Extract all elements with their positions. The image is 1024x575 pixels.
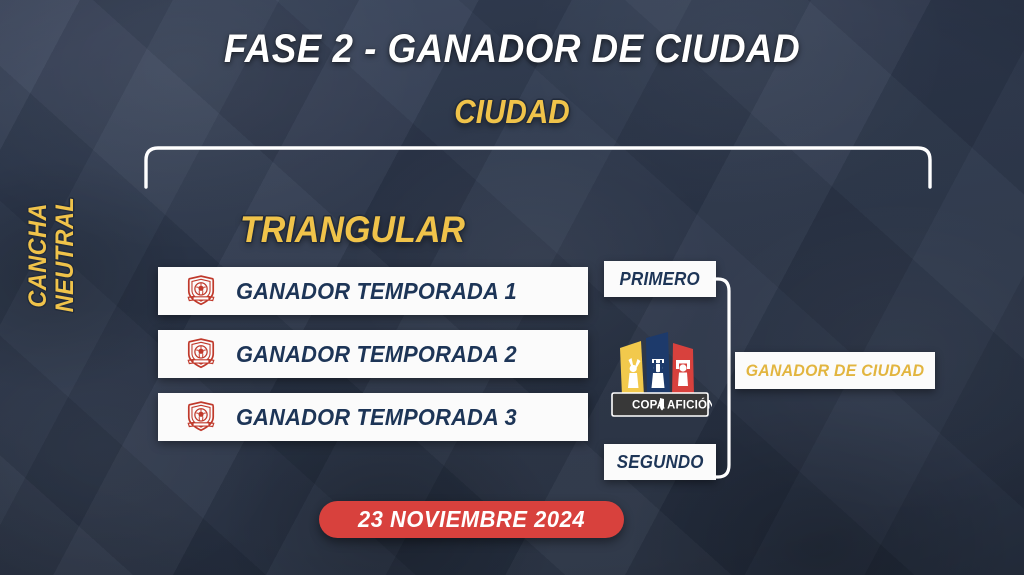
- top-bracket-line: [138, 140, 938, 195]
- logo-word-right: AFICIÓN: [667, 399, 712, 412]
- team-name: GANADOR TEMPORADA 1: [236, 278, 517, 305]
- venue-label: CANCHA NEUTRAL: [17, 175, 87, 335]
- venue-label-line2: NEUTRAL: [53, 197, 79, 313]
- winner-label: GANADOR DE CIUDAD: [746, 361, 925, 381]
- shield-soccer-crest-icon: [184, 274, 218, 308]
- team-name: GANADOR TEMPORADA 2: [236, 341, 517, 368]
- date-text: 23 NOVIEMBRE 2024: [358, 506, 585, 533]
- place-box-primero[interactable]: PRIMERO: [604, 261, 716, 297]
- logo-divider-emblem: [660, 398, 664, 411]
- table-row[interactable]: GANADOR TEMPORADA 2: [158, 330, 588, 378]
- date-badge: 23 NOVIEMBRE 2024: [319, 501, 624, 538]
- winner-bar[interactable]: GANADOR DE CIUDAD: [735, 352, 935, 389]
- shield-soccer-crest-icon: [184, 337, 218, 371]
- team-name: GANADOR TEMPORADA 3: [236, 404, 517, 431]
- place-label: PRIMERO: [620, 269, 700, 290]
- venue-label-line1: CANCHA: [26, 203, 52, 308]
- table-row[interactable]: GANADOR TEMPORADA 1: [158, 267, 588, 315]
- place-label: SEGUNDO: [617, 452, 704, 473]
- shield-soccer-crest-icon: [184, 400, 218, 434]
- page-subtitle: CIUDAD: [51, 93, 973, 131]
- place-box-segundo[interactable]: SEGUNDO: [604, 444, 716, 480]
- page-title: FASE 2 - GANADOR DE CIUDAD: [41, 27, 983, 72]
- group-heading: TRIANGULAR: [240, 209, 465, 251]
- copa-aficion-logo: COPA AFICIÓN: [608, 324, 712, 422]
- table-row[interactable]: GANADOR TEMPORADA 3: [158, 393, 588, 441]
